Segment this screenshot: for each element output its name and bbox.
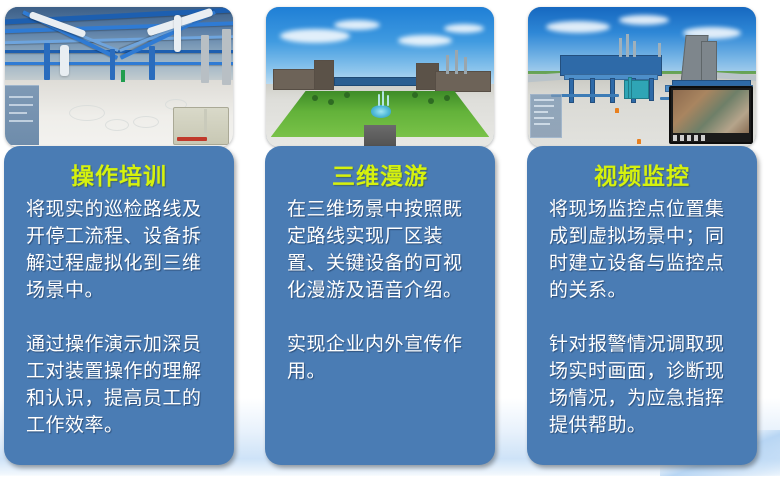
feature-panel: 三维漫游 在三维场景中按照既定路线实现厂区装置、关键设备的可视化漫游及语音介绍。… — [265, 146, 495, 465]
indoor-plant-3d-scene-thumbnail — [5, 7, 233, 147]
feature-paragraph: 在三维场景中按照既定路线实现厂区装置、关键设备的可视化漫游及语音介绍。 — [287, 196, 479, 304]
feature-body: 将现实的巡检路线及开停工流程、设备拆解过程虚拟化到三维场景中。 通过操作演示加深… — [26, 196, 218, 439]
feature-panel: 操作培训 将现实的巡检路线及开停工流程、设备拆解过程虚拟化到三维场景中。 通过操… — [4, 146, 234, 465]
plant-video-monitoring-3d-scene-thumbnail — [528, 7, 756, 147]
outdoor-campus-3d-scene-thumbnail — [266, 7, 494, 147]
scene-graphic — [266, 7, 494, 147]
camera-feed-controls — [673, 135, 707, 141]
feature-body: 在三维场景中按照既定路线实现厂区装置、关键设备的可视化漫游及语音介绍。 实现企业… — [287, 196, 479, 385]
feature-panel: 视频监控 将现场监控点位置集成到虚拟场景中；同时建立设备与监控点的关系。 针对报… — [527, 146, 757, 465]
camera-feed — [673, 90, 749, 133]
scene-info-panel — [5, 85, 39, 145]
video-monitor-inset[interactable] — [669, 86, 753, 144]
feature-paragraph: 通过操作演示加深员工对装置操作的理解和认识，提高员工的工作效率。 — [26, 331, 218, 439]
feature-paragraph: 将现实的巡检路线及开停工流程、设备拆解过程虚拟化到三维场景中。 — [26, 196, 218, 304]
feature-paragraph: 实现企业内外宣传作用。 — [287, 331, 479, 385]
feature-paragraph: 针对报警情况调取现场实时画面，诊断现场情况，为应急指挥提供帮助。 — [549, 331, 741, 439]
scene-equipment — [173, 107, 229, 145]
feature-paragraph: 将现场监控点位置集成到虚拟场景中；同时建立设备与监控点的关系。 — [549, 196, 741, 304]
feature-card[interactable]: 操作培训 将现实的巡检路线及开停工流程、设备拆解过程虚拟化到三维场景中。 通过操… — [4, 0, 234, 470]
feature-card[interactable]: 三维漫游 在三维场景中按照既定路线实现厂区装置、关键设备的可视化漫游及语音介绍。… — [265, 0, 495, 470]
feature-title: 视频监控 — [527, 157, 757, 191]
feature-body: 将现场监控点位置集成到虚拟场景中；同时建立设备与监控点的关系。 针对报警情况调取… — [549, 196, 741, 439]
feature-card-group: 操作培训 将现实的巡检路线及开停工流程、设备拆解过程虚拟化到三维场景中。 通过操… — [0, 0, 780, 491]
slide-canvas: 操作培训 将现实的巡检路线及开停工流程、设备拆解过程虚拟化到三维场景中。 通过操… — [0, 0, 780, 491]
scene-graphic — [528, 7, 756, 147]
scene-graphic — [5, 7, 233, 147]
feature-title: 操作培训 — [4, 157, 234, 191]
feature-card[interactable]: 视频监控 将现场监控点位置集成到虚拟场景中；同时建立设备与监控点的关系。 针对报… — [527, 0, 757, 470]
scene-hud-panel — [530, 94, 562, 138]
feature-title: 三维漫游 — [265, 157, 495, 191]
